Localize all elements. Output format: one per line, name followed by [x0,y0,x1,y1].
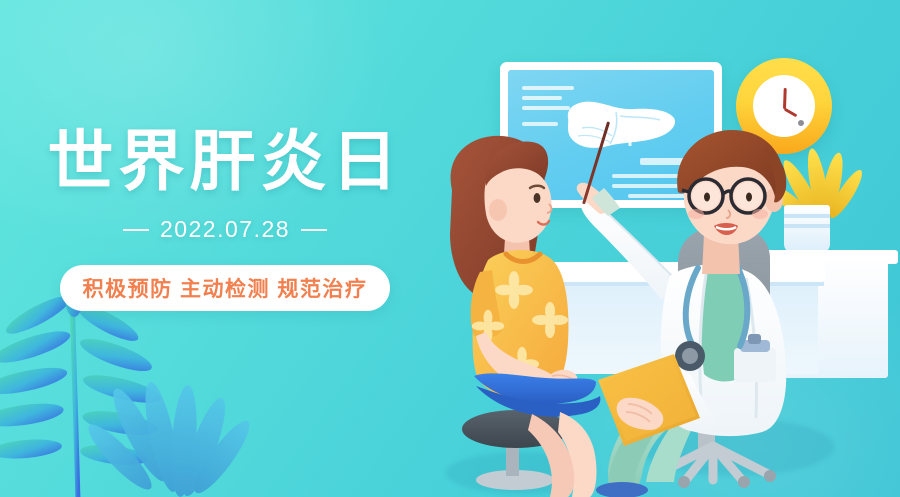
date-dash-right [301,229,327,231]
screen-text-line [522,96,562,100]
clock-minute-hand [783,88,787,109]
screen-text-line [522,86,574,90]
clock-hour-hand [784,108,798,118]
date-row: 2022.07.28 [0,216,450,243]
headline-block: 世界肝炎日 2022.07.28 积极预防 主动检测 规范治疗 [0,128,450,311]
fern-decoration [0,285,240,497]
date-dash-left [123,229,149,231]
page-title: 世界肝炎日 [0,128,450,194]
illustration-scene [400,0,900,497]
event-date: 2022.07.28 [160,216,290,243]
slogan-text: 积极预防 主动检测 规范治疗 [83,273,368,303]
slogan-pill: 积极预防 主动检测 规范治疗 [60,265,390,311]
screen-text-line [522,122,558,126]
doctor-figure [578,118,838,497]
poster-canvas: 世界肝炎日 2022.07.28 积极预防 主动检测 规范治疗 [0,0,900,497]
